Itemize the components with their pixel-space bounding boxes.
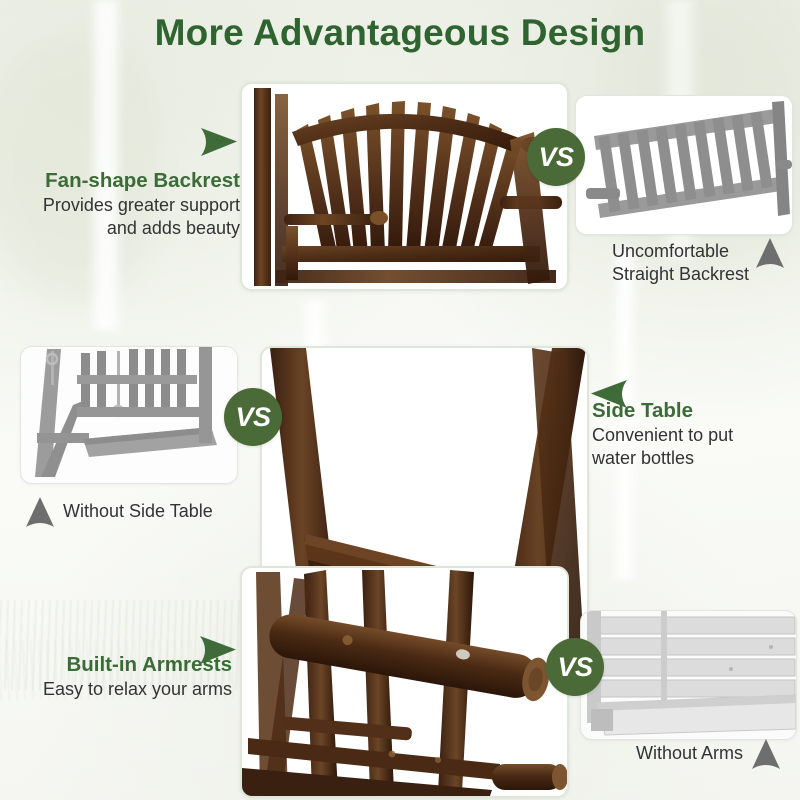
feature-body-line-2: and adds beauty [8, 217, 240, 240]
photo-card-straight-backrest [575, 95, 793, 235]
feature-body-line-1: Easy to relax your arms [8, 678, 232, 701]
caption-line-1: Without Arms [636, 742, 743, 765]
vs-badge: VS [527, 128, 585, 186]
photo-card-fan-shape-backrest [240, 82, 569, 291]
feature-body-line-1: Convenient to put [592, 424, 792, 447]
arrow-right-green-icon [199, 126, 239, 158]
arrow-up-gray-icon [750, 737, 782, 771]
fan-shape-backrest-illustration [242, 84, 567, 289]
caption-without-side-table: Without Side Table [24, 495, 213, 529]
feature-body-line-2: water bottles [592, 447, 792, 470]
arrow-right-green-icon [198, 634, 238, 666]
photo-card-without-arms [580, 610, 797, 740]
feature-heading: Fan-shape Backrest [8, 168, 240, 194]
feature-text-fan-shape-backrest: Fan-shape Backrest Provides greater supp… [8, 168, 240, 240]
feature-body-line-1: Provides greater support [8, 194, 240, 217]
caption-line-1: Without Side Table [63, 500, 213, 523]
product-feature-infographic: More Advantageous Design [0, 0, 800, 800]
photo-card-built-in-armrests [240, 566, 569, 798]
built-in-armrests-illustration [242, 568, 567, 796]
vs-badge: VS [546, 638, 604, 696]
arrow-up-gray-icon [754, 236, 786, 270]
vs-badge: VS [224, 388, 282, 446]
arrow-left-green-icon [589, 378, 629, 410]
photo-card-without-side-table [20, 346, 238, 484]
without-arms-illustration [581, 611, 796, 739]
straight-backrest-illustration [576, 96, 792, 234]
without-side-table-illustration [21, 347, 237, 483]
arrow-up-gray-icon [24, 495, 56, 529]
caption-without-arms: Without Arms [636, 737, 782, 771]
page-title: More Advantageous Design [0, 12, 800, 54]
